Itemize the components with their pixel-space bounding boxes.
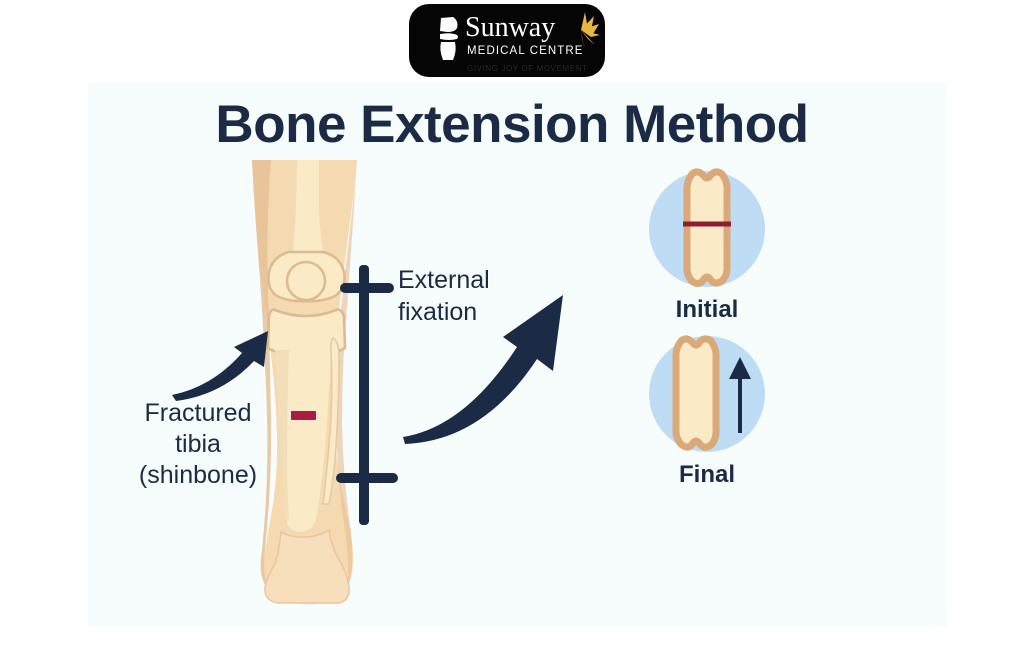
fixation-rod: [359, 265, 369, 525]
label-external-fixation: External fixation: [398, 264, 578, 328]
label-external-line1: External: [398, 264, 578, 296]
page-title: Bone Extension Method: [0, 95, 1024, 155]
inset-initial-graphic: [646, 168, 768, 290]
label-fractured-line2: tibia: [98, 429, 298, 460]
fixation-pin-bottom: [336, 473, 398, 483]
inset-final-caption: Final: [642, 461, 772, 489]
patella-bone: [287, 262, 325, 300]
logo-wordmark: Sunway: [465, 13, 555, 43]
sunburst-icon: [561, 10, 601, 50]
inset-initial-bone: [687, 172, 727, 284]
diagram-canvas: Sunway MEDICAL CENTRE GIVING JOY OF MOVE…: [0, 0, 1024, 671]
label-external-line2: fixation: [398, 296, 578, 328]
logo-inner: Sunway MEDICAL CENTRE GIVING JOY OF MOVE…: [409, 4, 605, 77]
logo-subtitle: MEDICAL CENTRE: [467, 45, 584, 57]
inset-initial: Initial: [642, 168, 772, 324]
logo-tagline: GIVING JOY OF MOVEMENT: [467, 64, 588, 73]
label-fractured-line1: Fractured: [98, 398, 298, 429]
inset-initial-caption: Initial: [642, 296, 772, 324]
inset-final-graphic: [646, 333, 768, 455]
inset-final: Final: [642, 333, 772, 489]
label-fractured-line3: (shinbone): [98, 460, 298, 491]
inset-final-circle: [646, 333, 768, 455]
inset-initial-circle: [646, 168, 768, 290]
inset-final-bone: [676, 339, 716, 447]
fixation-pin-top: [340, 283, 394, 293]
sunway-logo: Sunway MEDICAL CENTRE GIVING JOY OF MOVE…: [409, 4, 605, 77]
label-fractured-tibia: Fractured tibia (shinbone): [98, 398, 298, 491]
knee-joint-logo-icon: [435, 16, 465, 62]
pointer-arrow-to-tibia: [160, 295, 290, 405]
